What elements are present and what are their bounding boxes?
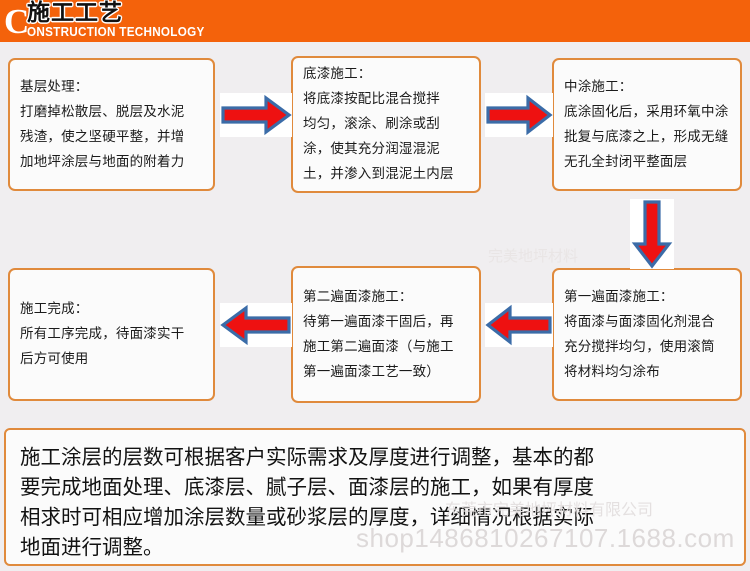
flow-step-line: 土，并渗入到混泥土内层 (303, 162, 469, 187)
arrow-right-icon (220, 93, 292, 137)
flow-step-mid-coat-construction: 中涂施工： 底涂固化后，采用环氧中涂 批复与底漆之上，形成无缝 无孔全封闭平整面… (552, 58, 742, 191)
flow-step-line: 将材料均匀涂布 (564, 360, 730, 385)
flow-step-base-treatment: 基层处理： 打磨掉松散层、脱层及水泥 残渣，使之坚硬平整，并增 加地坪涂层与地面… (8, 58, 215, 191)
flow-step-line: 充分搅拌均匀，使用滚筒 (564, 335, 730, 360)
summary-note-panel: 施工涂层的层数可根据客户实际需求及厚度进行调整，基本的都 要完成地面处理、底漆层… (4, 428, 746, 566)
flow-step-line: 无孔全封闭平整面层 (564, 150, 730, 175)
brand-english-title: ONSTRUCTION TECHNOLOGY (27, 25, 205, 39)
flow-step-line: 第一遍面漆工艺一致） (303, 360, 469, 385)
flow-step-line: 涂，使其充分润湿混泥 (303, 137, 469, 162)
page-header-banner: C 施工工艺 ONSTRUCTION TECHNOLOGY (0, 0, 750, 42)
summary-line: 施工涂层的层数可根据客户实际需求及厚度进行调整，基本的都 (20, 442, 732, 472)
flow-step-line: 残渣，使之坚硬平整，并增 (20, 125, 203, 150)
flow-step-first-topcoat: 第一遍面漆施工： 将面漆与面漆固化剂混合 充分搅拌均匀，使用滚筒 将材料均匀涂布 (552, 268, 742, 401)
flow-step-title: 施工完成： (20, 297, 203, 322)
company-watermark: 完美地坪材料 (488, 245, 578, 266)
flow-step-line: 待第一遍面漆干固后，再 (303, 310, 469, 335)
flow-step-line: 均匀，滚涂、刷涂或刮 (303, 112, 469, 137)
flow-step-line: 所有工序完成，待面漆实干 (20, 322, 203, 347)
arrow-left-icon (485, 303, 553, 347)
summary-line: 相求时可相应增加涂层数量或砂浆层的厚度，详细情况根据实际 (20, 502, 732, 532)
flow-step-title: 第二遍面漆施工： (303, 285, 469, 310)
brand-drop-cap: C (4, 4, 29, 39)
flow-step-title: 底漆施工： (303, 62, 469, 87)
brand-lockup: C 施工工艺 ONSTRUCTION TECHNOLOGY (4, 1, 264, 42)
flow-step-title: 中涂施工： (564, 75, 730, 100)
flow-step-line: 打磨掉松散层、脱层及水泥 (20, 100, 203, 125)
arrow-down-icon (630, 199, 674, 269)
flow-step-line: 加地坪涂层与地面的附着力 (20, 150, 203, 175)
flow-step-line: 批复与底漆之上，形成无缝 (564, 125, 730, 150)
flow-step-line: 后方可使用 (20, 347, 203, 372)
flow-step-construction-complete: 施工完成： 所有工序完成，待面漆实干 后方可使用 (8, 268, 215, 401)
summary-line: 要完成地面处理、底漆层、腻子层、面漆层的施工，如果有厚度 (20, 472, 732, 502)
summary-line: 地面进行调整。 (20, 532, 732, 562)
arrow-right-icon (485, 93, 553, 137)
flow-step-title: 第一遍面漆施工： (564, 285, 730, 310)
flow-step-line: 底涂固化后，采用环氧中涂 (564, 100, 730, 125)
brand-chinese-title: 施工工艺 (27, 1, 123, 26)
flow-step-primer-construction: 底漆施工： 将底漆按配比混合搅拌 均匀，滚涂、刷涂或刮 涂，使其充分润湿混泥 土… (291, 56, 481, 193)
flow-step-line: 施工第二遍面漆（与施工 (303, 335, 469, 360)
flow-step-line: 将面漆与面漆固化剂混合 (564, 310, 730, 335)
flow-step-title: 基层处理： (20, 75, 203, 100)
flow-step-second-topcoat: 第二遍面漆施工： 待第一遍面漆干固后，再 施工第二遍面漆（与施工 第一遍面漆工艺… (291, 266, 481, 403)
arrow-left-icon (220, 303, 292, 347)
flow-step-line: 将底漆按配比混合搅拌 (303, 87, 469, 112)
